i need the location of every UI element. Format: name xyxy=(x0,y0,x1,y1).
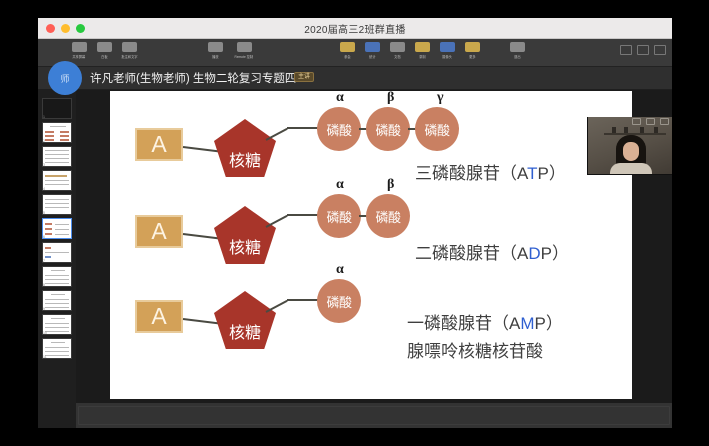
whiteboard-icon xyxy=(97,42,112,52)
inner-window-controls xyxy=(620,45,666,55)
thumbnail-index: 11 xyxy=(43,355,47,359)
adenine-box: A xyxy=(135,300,183,333)
thumbnail-index: 7 xyxy=(43,259,45,263)
phosphate-circle: 磷酸 xyxy=(317,279,361,323)
participants-icon xyxy=(340,42,355,52)
camera-icon xyxy=(440,42,455,52)
slide-thumbnail-2[interactable]: 2 xyxy=(42,122,72,143)
toolbar-button-camera[interactable]: 摄像头 xyxy=(438,42,456,59)
restore-icon[interactable] xyxy=(637,45,649,55)
thumbnail-index: 6 xyxy=(43,235,45,239)
toolbar-button-more[interactable]: 更多 xyxy=(463,42,481,59)
toolbar-label: 录制 xyxy=(419,54,425,59)
caption-text: 一磷酸腺苷 xyxy=(407,314,492,333)
slide-thumbnail-3[interactable]: 3 xyxy=(42,146,72,167)
thumbnail-index: 10 xyxy=(43,331,47,335)
slide-thumbnail-6[interactable]: 6 xyxy=(42,218,72,239)
toolbar-button-remote[interactable]: Remote 控制 xyxy=(231,42,257,59)
thumbnail-index: 5 xyxy=(43,211,45,215)
slide-thumbnail-7[interactable]: 7 xyxy=(42,242,72,263)
slide-thumbnail-10[interactable]: 10 xyxy=(42,314,72,335)
toolbar-label: 统计 xyxy=(369,54,375,59)
slide-stage: A 核糖 α 磷酸 β 磷酸 γ 磷酸 xyxy=(76,90,672,428)
caption-p: P xyxy=(535,314,546,333)
toolbar-label: 更多 xyxy=(469,54,475,59)
toolbar-button-document[interactable]: 文档 xyxy=(388,42,406,59)
webcam-object xyxy=(640,127,644,133)
toolbar-button-whiteboard[interactable]: 白板 xyxy=(95,42,113,59)
webcam-object xyxy=(654,127,658,133)
thumbnail-index: 1 xyxy=(43,115,45,119)
document-icon xyxy=(390,42,405,52)
play-icon xyxy=(208,42,223,52)
caption-amp-secondary: 腺嘌呤核糖核苷酸 xyxy=(407,337,543,362)
toolbar-button-participants[interactable]: 参会 xyxy=(338,42,356,59)
presenter-name: 许凡老师(生物老师) 生物二轮复习专题四 xyxy=(90,70,296,86)
caption-paren-close: ） xyxy=(546,314,563,333)
webcam-person-body xyxy=(610,163,652,175)
slide-thumbnail-8[interactable]: 8 xyxy=(42,266,72,287)
greek-label-alpha: α xyxy=(336,262,344,278)
slide-thumbnail-panel[interactable]: 1 2 3 4 xyxy=(38,90,76,428)
caption-paren-open: （ xyxy=(492,314,509,333)
window-title: 2020届高三2班群直播 xyxy=(38,21,672,36)
caption-a: A xyxy=(509,314,520,333)
toolbar-label: 文档 xyxy=(394,54,400,59)
avatar[interactable]: 师 xyxy=(48,61,82,95)
thumbnail-index: 2 xyxy=(43,139,45,143)
presenter-bar: 师 许凡老师(生物老师) 生物二轮复习专题四 主讲 xyxy=(38,67,672,90)
toolbar-right-group: 参会 统计 文档 录制 摄像头 xyxy=(338,42,481,59)
toolbar-button-exit[interactable]: 退出 xyxy=(508,42,526,59)
slide-canvas: A 核糖 α 磷酸 β 磷酸 γ 磷酸 xyxy=(110,91,632,399)
slide-bottom-bar-inner xyxy=(78,406,670,425)
screen: 2020届高三2班群直播 共享屏幕 白板 批注和文字 xyxy=(0,0,709,446)
toolbar-label: 参会 xyxy=(344,54,350,59)
toolbar-button-stats[interactable]: 统计 xyxy=(363,42,381,59)
toolbar-label: 批注和文字 xyxy=(121,54,137,59)
slide-thumbnail-4[interactable]: 4 xyxy=(42,170,72,191)
toolbar-label: 退出 xyxy=(514,54,520,59)
more-icon xyxy=(465,42,480,52)
webcam-object xyxy=(612,127,616,133)
diagram-row-amp: A 核糖 α 磷酸 一磷酸腺苷（AMP） 腺嘌呤核糖核苷酸 xyxy=(110,91,632,399)
bond-line xyxy=(266,300,288,313)
thumbnail-index: 4 xyxy=(43,187,45,191)
app-window: 2020届高三2班群直播 共享屏幕 白板 批注和文字 xyxy=(38,18,672,428)
close-icon[interactable] xyxy=(654,45,666,55)
toolbar-label: 摄像头 xyxy=(442,54,452,59)
slide-thumbnail-5[interactable]: 5 xyxy=(42,194,72,215)
status-badge: 主讲 xyxy=(294,72,314,82)
toolbar-button-share-screen[interactable]: 共享屏幕 xyxy=(70,42,88,59)
toolbar-button-annotate[interactable]: 批注和文字 xyxy=(120,42,138,59)
webcam-close-icon[interactable] xyxy=(660,118,669,125)
ribose-pentagon: 核糖 xyxy=(214,291,276,349)
minimize-icon[interactable] xyxy=(620,45,632,55)
annotate-icon xyxy=(122,42,137,52)
window-titlebar: 2020届高三2班群直播 xyxy=(38,18,672,39)
slide-bottom-bar[interactable] xyxy=(76,402,672,428)
toolbar-label: Remote 控制 xyxy=(235,54,254,59)
slide-thumbnail-9[interactable]: 9 xyxy=(42,290,72,311)
toolbar-label: 共享屏幕 xyxy=(73,54,86,59)
webcam-person-face xyxy=(623,142,639,161)
webcam-restore-icon[interactable] xyxy=(646,118,655,125)
webcam-object xyxy=(624,127,628,133)
slide-thumbnail-11[interactable]: 11 xyxy=(42,338,72,359)
toolbar-label: 播放 xyxy=(212,54,218,59)
toolbar-label: 白板 xyxy=(101,54,107,59)
thumbnail-index: 9 xyxy=(43,307,45,311)
share-screen-icon xyxy=(72,42,87,52)
slide-thumbnail-1[interactable]: 1 xyxy=(42,98,72,119)
toolbar-far-right-group: 退出 xyxy=(508,42,526,59)
toolbar-button-play[interactable]: 播放 xyxy=(206,42,224,59)
chart-icon xyxy=(365,42,380,52)
webcam-window-controls xyxy=(632,118,669,125)
toolbar-center-group: 播放 Remote 控制 xyxy=(206,42,257,59)
app-toolbar: 共享屏幕 白板 批注和文字 播放 Remote 控制 xyxy=(38,39,672,67)
thumbnail-index: 3 xyxy=(43,163,45,167)
window-body: 1 2 3 4 xyxy=(38,90,672,428)
remote-icon xyxy=(237,42,252,52)
webcam-video-panel[interactable] xyxy=(587,117,672,175)
thumbnail-index: 8 xyxy=(43,283,45,287)
bond-line xyxy=(287,299,319,301)
toolbar-left-group: 共享屏幕 白板 批注和文字 xyxy=(70,42,138,59)
toolbar-button-record[interactable]: 录制 xyxy=(413,42,431,59)
record-icon xyxy=(415,42,430,52)
caption-amp: 一磷酸腺苷（AMP） xyxy=(407,309,563,334)
bond-line xyxy=(183,318,219,324)
caption-highlight: M xyxy=(520,314,534,333)
webcam-minimize-icon[interactable] xyxy=(632,118,641,125)
exit-icon xyxy=(510,42,525,52)
